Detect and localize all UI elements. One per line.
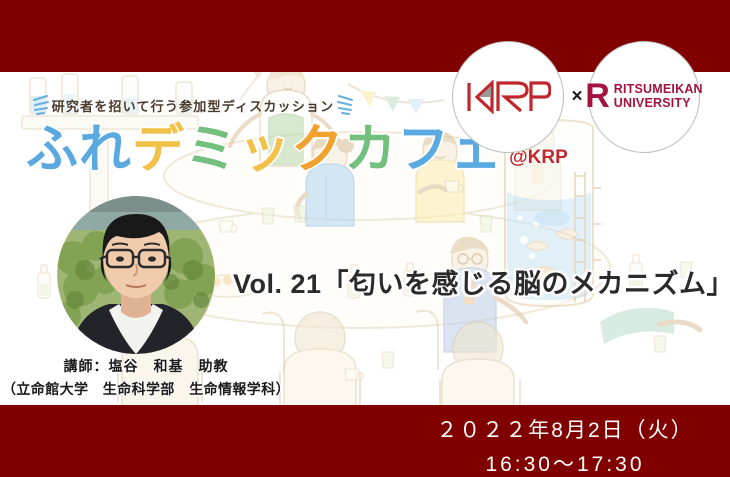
event-datetime: ２０２２年8月2日（火） 16:30〜17:30	[400, 414, 730, 477]
logotype-char-3: ミ	[185, 124, 238, 176]
logotype-char-4: ッ	[238, 124, 291, 176]
ritsumeikan-wordmark: RITSUMEIKAN UNIVERSITY	[614, 83, 703, 110]
logotype-char-6: カ	[344, 124, 397, 176]
speaker-caption: 講師：塩谷 和基 助教 （立命館大学 生命科学部 生命情報学科）	[0, 356, 292, 399]
speaker-affiliation: （立命館大学 生命科学部 生命情報学科）	[0, 379, 292, 399]
sparkle-left-icon	[26, 93, 52, 117]
speaker-name: 講師：塩谷 和基 助教	[0, 356, 292, 376]
event-time: 16:30〜17:30	[400, 448, 730, 477]
ritsumeikan-line2: UNIVERSITY	[614, 97, 703, 111]
krp-logo-icon	[465, 80, 551, 114]
ritsumeikan-logo: R RITSUMEIKAN UNIVERSITY	[588, 41, 700, 153]
sparkle-right-icon	[334, 93, 360, 117]
logotype-char-2: デ	[132, 124, 185, 176]
speaker-portrait	[57, 196, 215, 354]
ritsumeikan-line1: RITSUMEIKAN	[614, 83, 703, 97]
logotype-char-0: ふ	[26, 124, 79, 176]
logotype-char-5: ク	[291, 124, 344, 176]
event-poster: 研究者を招いて行う参加型ディスカッション ふ れ デ ミ ッ ク カ フ ェ @…	[0, 0, 730, 477]
subtitle-row: 研究者を招いて行う参加型ディスカッション	[28, 92, 358, 118]
event-date: ２０２２年8月2日（火）	[400, 414, 730, 444]
subtitle-text: 研究者を招いて行う参加型ディスカッション	[52, 96, 335, 115]
ritsumeikan-logo-inner: R RITSUMEIKAN UNIVERSITY	[585, 82, 703, 111]
volume-title: Vol. 21「匂いを感じる脳のメカニズム」	[233, 262, 730, 301]
logotype-char-1: れ	[79, 124, 132, 176]
logotype-char-7: フ	[397, 124, 450, 176]
krp-logo	[452, 41, 564, 153]
ritsumeikan-initial: R	[585, 82, 610, 111]
